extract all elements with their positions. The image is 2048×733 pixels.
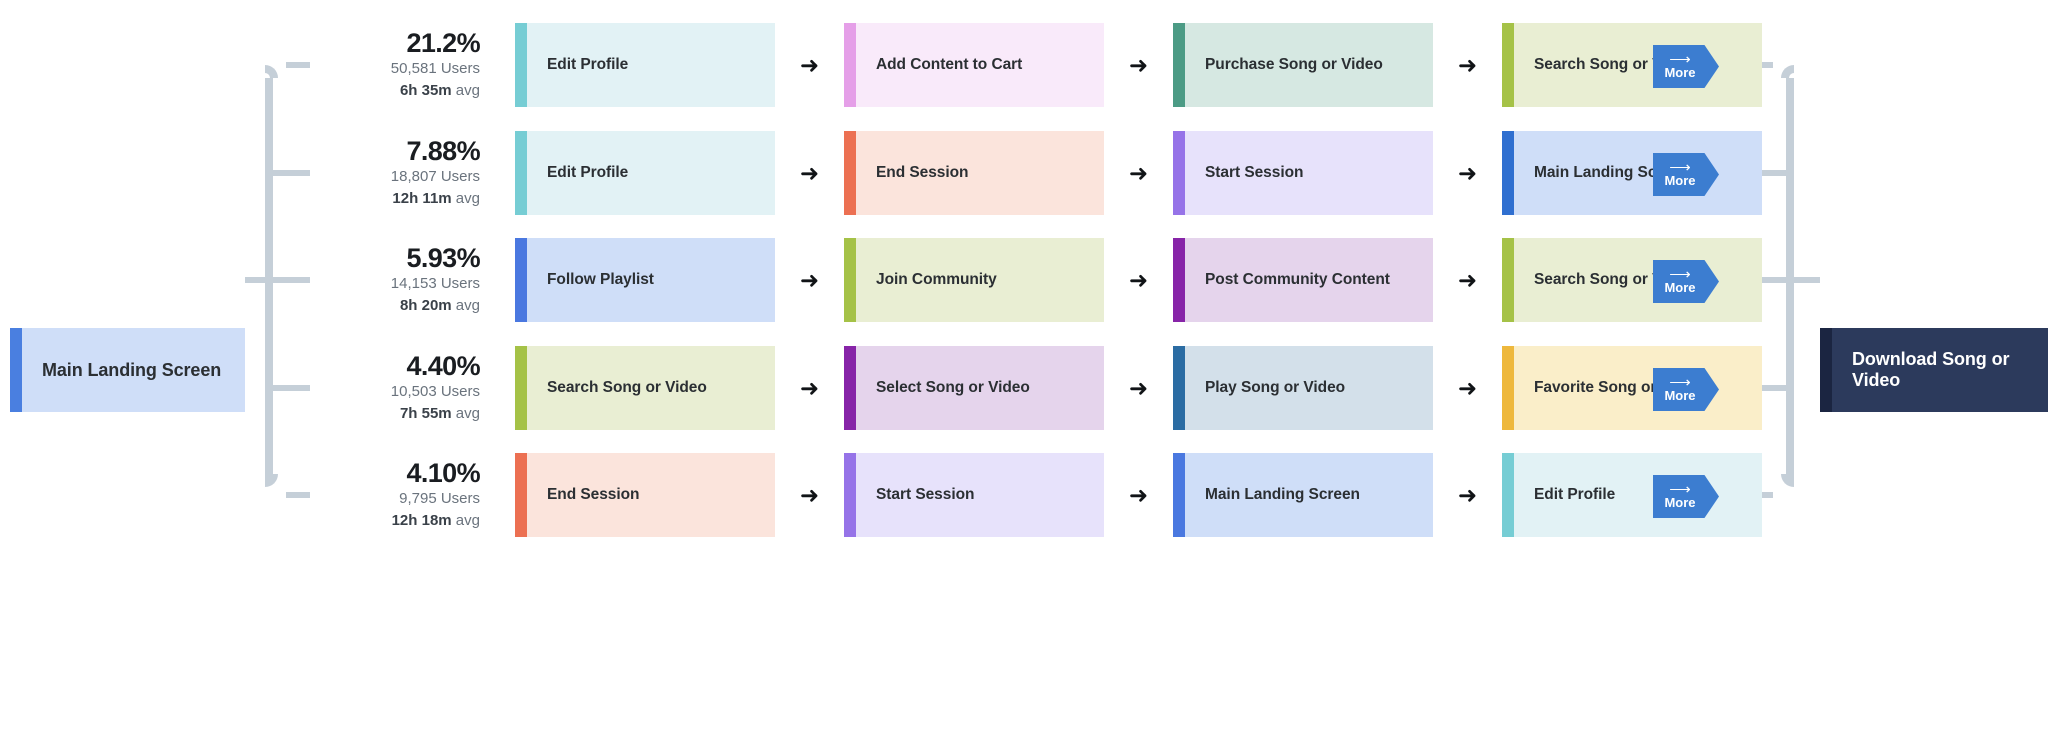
node-accent-bar bbox=[844, 453, 856, 537]
path-row: 4.10%9,795 Users12h 18m avgEnd Session➜S… bbox=[0, 453, 2048, 537]
flow-step-label: Search Song or Video bbox=[1514, 238, 1762, 322]
flow-step-label: Play Song or Video bbox=[1185, 346, 1433, 430]
more-button-label: More bbox=[1664, 66, 1695, 80]
step-arrow-icon: ➜ bbox=[1104, 23, 1173, 107]
path-step-sequence: Edit Profile➜Add Content to Cart➜Purchas… bbox=[515, 23, 1762, 107]
flow-step-label: Edit Profile bbox=[527, 23, 775, 107]
path-percentage: 5.93% bbox=[406, 244, 480, 273]
node-accent-bar bbox=[1173, 453, 1185, 537]
path-percentage: 21.2% bbox=[406, 29, 480, 58]
step-arrow-icon: ➜ bbox=[775, 346, 844, 430]
flow-step-node[interactable]: Edit Profile bbox=[1502, 453, 1762, 537]
flow-step-node[interactable]: End Session bbox=[515, 453, 775, 537]
node-accent-bar bbox=[515, 131, 527, 215]
flow-step-node[interactable]: Join Community bbox=[844, 238, 1104, 322]
path-avg-duration: 12h 11m avg bbox=[392, 188, 480, 210]
path-percentage: 4.40% bbox=[406, 352, 480, 381]
node-accent-bar bbox=[1502, 453, 1514, 537]
path-step-sequence: Follow Playlist➜Join Community➜Post Comm… bbox=[515, 238, 1762, 322]
flow-step-node[interactable]: Start Session bbox=[844, 453, 1104, 537]
flow-step-label: End Session bbox=[527, 453, 775, 537]
step-arrow-icon: ➜ bbox=[1104, 346, 1173, 430]
path-stats: 21.2%50,581 Users6h 35m avg bbox=[300, 23, 480, 107]
flow-step-label: End Session bbox=[856, 131, 1104, 215]
node-accent-bar bbox=[515, 23, 527, 107]
flow-step-label: Join Community bbox=[856, 238, 1104, 322]
flow-step-node[interactable]: Purchase Song or Video bbox=[1173, 23, 1433, 107]
path-avg-duration-value: 7h 55m bbox=[400, 405, 452, 422]
path-row: 21.2%50,581 Users6h 35m avgEdit Profile➜… bbox=[0, 23, 2048, 107]
flow-step-node[interactable]: End Session bbox=[844, 131, 1104, 215]
node-accent-bar bbox=[1502, 238, 1514, 322]
flow-step-label: Main Landing Screen bbox=[1185, 453, 1433, 537]
step-arrow-icon: ➜ bbox=[775, 238, 844, 322]
flow-step-node[interactable]: Select Song or Video bbox=[844, 346, 1104, 430]
path-stats: 4.10%9,795 Users12h 18m avg bbox=[300, 453, 480, 537]
flow-step-node[interactable]: Follow Playlist bbox=[515, 238, 775, 322]
path-step-sequence: End Session➜Start Session➜Main Landing S… bbox=[515, 453, 1762, 537]
more-button-label: More bbox=[1664, 174, 1695, 188]
node-accent-bar bbox=[844, 23, 856, 107]
flow-step-label: Purchase Song or Video bbox=[1185, 23, 1433, 107]
node-accent-bar bbox=[515, 238, 527, 322]
flow-step-label: Start Session bbox=[1185, 131, 1433, 215]
more-button-label: More bbox=[1664, 281, 1695, 295]
flow-step-node[interactable]: Search Song or Video bbox=[515, 346, 775, 430]
path-avg-duration-value: 12h 11m bbox=[392, 190, 451, 207]
path-row: 7.88%18,807 Users12h 11m avgEdit Profile… bbox=[0, 131, 2048, 215]
step-arrow-icon: ➜ bbox=[1104, 453, 1173, 537]
path-avg-duration: 6h 35m avg bbox=[400, 80, 480, 102]
flow-step-label: Main Landing Screen bbox=[1514, 131, 1762, 215]
node-accent-bar bbox=[1502, 346, 1514, 430]
flow-step-label: Post Community Content bbox=[1185, 238, 1433, 322]
flow-step-label: Start Session bbox=[856, 453, 1104, 537]
path-percentage: 4.10% bbox=[406, 459, 480, 488]
node-accent-bar bbox=[1173, 238, 1185, 322]
path-stats: 4.40%10,503 Users7h 55m avg bbox=[300, 346, 480, 430]
step-arrow-icon: ➜ bbox=[775, 23, 844, 107]
node-accent-bar bbox=[1502, 23, 1514, 107]
flow-step-node[interactable]: Post Community Content bbox=[1173, 238, 1433, 322]
flow-step-node[interactable]: Edit Profile bbox=[515, 23, 775, 107]
flow-step-node[interactable]: Main Landing Screen bbox=[1173, 453, 1433, 537]
journey-flow-diagram: Main Landing Screen Download Song or Vid… bbox=[0, 0, 2048, 733]
step-arrow-icon: ➜ bbox=[1433, 453, 1502, 537]
flow-step-node[interactable]: Edit Profile bbox=[515, 131, 775, 215]
path-avg-duration-value: 8h 20m bbox=[400, 297, 452, 314]
step-arrow-icon: ➜ bbox=[775, 131, 844, 215]
step-arrow-icon: ➜ bbox=[1104, 238, 1173, 322]
path-percentage: 7.88% bbox=[406, 137, 480, 166]
path-row: 5.93%14,153 Users8h 20m avgFollow Playli… bbox=[0, 238, 2048, 322]
node-accent-bar bbox=[515, 346, 527, 430]
flow-step-node[interactable]: Search Song or Video bbox=[1502, 238, 1762, 322]
flow-step-node[interactable]: Main Landing Screen bbox=[1502, 131, 1762, 215]
path-step-sequence: Search Song or Video➜Select Song or Vide… bbox=[515, 346, 1762, 430]
flow-step-label: Add Content to Cart bbox=[856, 23, 1104, 107]
step-arrow-icon: ➜ bbox=[775, 453, 844, 537]
node-accent-bar bbox=[844, 131, 856, 215]
path-user-count: 50,581 Users bbox=[391, 58, 480, 80]
path-avg-duration-value: 6h 35m bbox=[400, 82, 452, 99]
path-row: 4.40%10,503 Users7h 55m avgSearch Song o… bbox=[0, 346, 2048, 430]
node-accent-bar bbox=[844, 238, 856, 322]
path-avg-duration: 7h 55m avg bbox=[400, 403, 480, 425]
flow-step-node[interactable]: Start Session bbox=[1173, 131, 1433, 215]
path-user-count: 9,795 Users bbox=[399, 488, 480, 510]
flow-step-node[interactable]: Play Song or Video bbox=[1173, 346, 1433, 430]
more-button-label: More bbox=[1664, 496, 1695, 510]
node-accent-bar bbox=[844, 346, 856, 430]
flow-step-label: Search Song or Video bbox=[1514, 23, 1762, 107]
path-stats: 7.88%18,807 Users12h 11m avg bbox=[300, 131, 480, 215]
step-arrow-icon: ➜ bbox=[1104, 131, 1173, 215]
path-avg-duration: 12h 18m avg bbox=[392, 510, 480, 532]
path-stats: 5.93%14,153 Users8h 20m avg bbox=[300, 238, 480, 322]
flow-step-label: Follow Playlist bbox=[527, 238, 775, 322]
flow-step-node[interactable]: Add Content to Cart bbox=[844, 23, 1104, 107]
flow-step-node[interactable]: Search Song or Video bbox=[1502, 23, 1762, 107]
path-avg-duration: 8h 20m avg bbox=[400, 295, 480, 317]
step-arrow-icon: ➜ bbox=[1433, 23, 1502, 107]
node-accent-bar bbox=[515, 453, 527, 537]
node-accent-bar bbox=[1173, 131, 1185, 215]
path-user-count: 14,153 Users bbox=[391, 273, 480, 295]
flow-step-label: Favorite Song or Video bbox=[1514, 346, 1762, 430]
path-avg-duration-value: 12h 18m bbox=[392, 512, 452, 529]
more-button-label: More bbox=[1664, 389, 1695, 403]
step-arrow-icon: ➜ bbox=[1433, 238, 1502, 322]
flow-step-label: Edit Profile bbox=[1514, 453, 1762, 537]
path-step-sequence: Edit Profile➜End Session➜Start Session➜M… bbox=[515, 131, 1762, 215]
node-accent-bar bbox=[1502, 131, 1514, 215]
flow-step-node[interactable]: Favorite Song or Video bbox=[1502, 346, 1762, 430]
flow-step-label: Edit Profile bbox=[527, 131, 775, 215]
flow-step-label: Select Song or Video bbox=[856, 346, 1104, 430]
path-user-count: 10,503 Users bbox=[391, 381, 480, 403]
node-accent-bar bbox=[1173, 23, 1185, 107]
step-arrow-icon: ➜ bbox=[1433, 131, 1502, 215]
node-accent-bar bbox=[1173, 346, 1185, 430]
path-user-count: 18,807 Users bbox=[391, 166, 480, 188]
flow-step-label: Search Song or Video bbox=[527, 346, 775, 430]
step-arrow-icon: ➜ bbox=[1433, 346, 1502, 430]
